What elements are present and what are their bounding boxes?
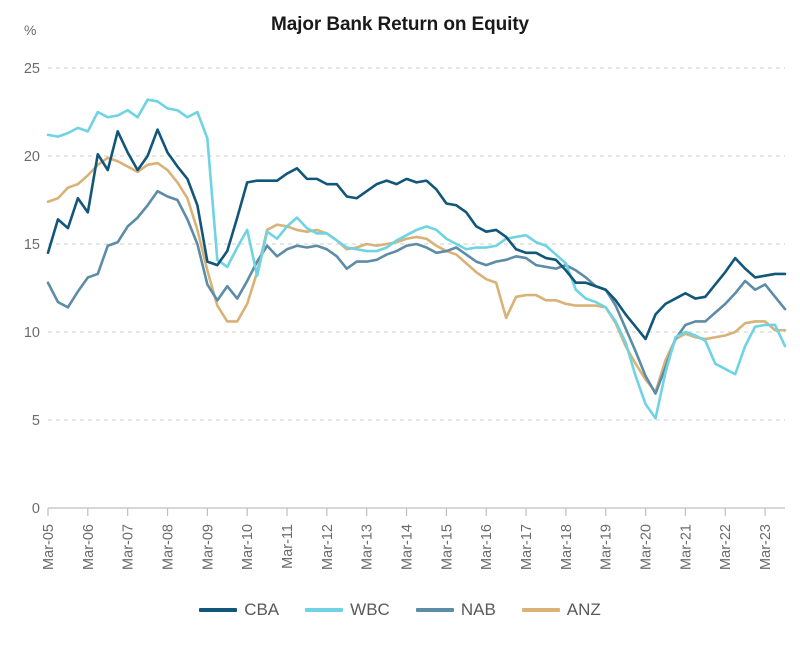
legend-item-wbc[interactable]: WBC xyxy=(305,600,390,620)
x-tick-label: Mar-10 xyxy=(240,524,256,570)
x-tick-label: Mar-19 xyxy=(599,524,615,570)
x-tick-label: Mar-07 xyxy=(121,524,137,570)
y-tick-label: 0 xyxy=(32,501,40,517)
legend-label-nab: NAB xyxy=(461,600,496,620)
chart-legend: CBA WBC NAB ANZ xyxy=(0,600,800,620)
legend-label-cba: CBA xyxy=(244,600,279,620)
chart-container: Major Bank Return on Equity % 0510152025… xyxy=(0,0,800,645)
x-tick-label: Mar-11 xyxy=(280,524,296,569)
x-tick-label: Mar-13 xyxy=(360,524,376,570)
series-line-cba xyxy=(48,130,785,339)
legend-item-cba[interactable]: CBA xyxy=(199,600,279,620)
x-axis-tick-labels: Mar-05Mar-06Mar-07Mar-08Mar-09Mar-10Mar-… xyxy=(41,524,774,570)
x-tick-label: Mar-14 xyxy=(400,524,416,570)
x-tick-label: Mar-17 xyxy=(519,524,535,570)
x-tick-label: Mar-06 xyxy=(81,524,97,570)
x-tick-label: Mar-15 xyxy=(439,524,455,570)
y-tick-label: 15 xyxy=(24,237,40,253)
x-tick-label: Mar-20 xyxy=(639,524,655,570)
legend-item-nab[interactable]: NAB xyxy=(416,600,496,620)
x-tick-label: Mar-23 xyxy=(758,524,774,570)
legend-label-anz: ANZ xyxy=(567,600,601,620)
series-line-nab xyxy=(48,191,785,393)
legend-swatch-cba xyxy=(199,608,237,612)
x-tick-label: Mar-05 xyxy=(41,524,57,570)
x-axis-ticks xyxy=(48,508,765,516)
x-tick-label: Mar-21 xyxy=(678,524,694,570)
legend-label-wbc: WBC xyxy=(350,600,390,620)
data-series-lines xyxy=(48,100,785,419)
x-tick-label: Mar-16 xyxy=(479,524,495,570)
legend-swatch-anz xyxy=(522,608,560,612)
y-tick-label: 25 xyxy=(24,61,40,77)
legend-item-anz[interactable]: ANZ xyxy=(522,600,601,620)
y-tick-label: 10 xyxy=(24,325,40,341)
y-tick-label: 20 xyxy=(24,149,40,165)
x-tick-label: Mar-08 xyxy=(161,524,177,570)
y-tick-label: 5 xyxy=(32,413,40,429)
chart-plot-area: 0510152025 Mar-05Mar-06Mar-07Mar-08Mar-0… xyxy=(0,0,800,645)
x-tick-label: Mar-18 xyxy=(559,524,575,570)
series-line-wbc xyxy=(48,100,785,419)
x-tick-label: Mar-09 xyxy=(200,524,216,570)
legend-swatch-nab xyxy=(416,608,454,612)
x-tick-label: Mar-12 xyxy=(320,524,336,570)
x-tick-label: Mar-22 xyxy=(718,524,734,570)
y-axis-tick-labels: 0510152025 xyxy=(24,61,40,517)
legend-swatch-wbc xyxy=(305,608,343,612)
